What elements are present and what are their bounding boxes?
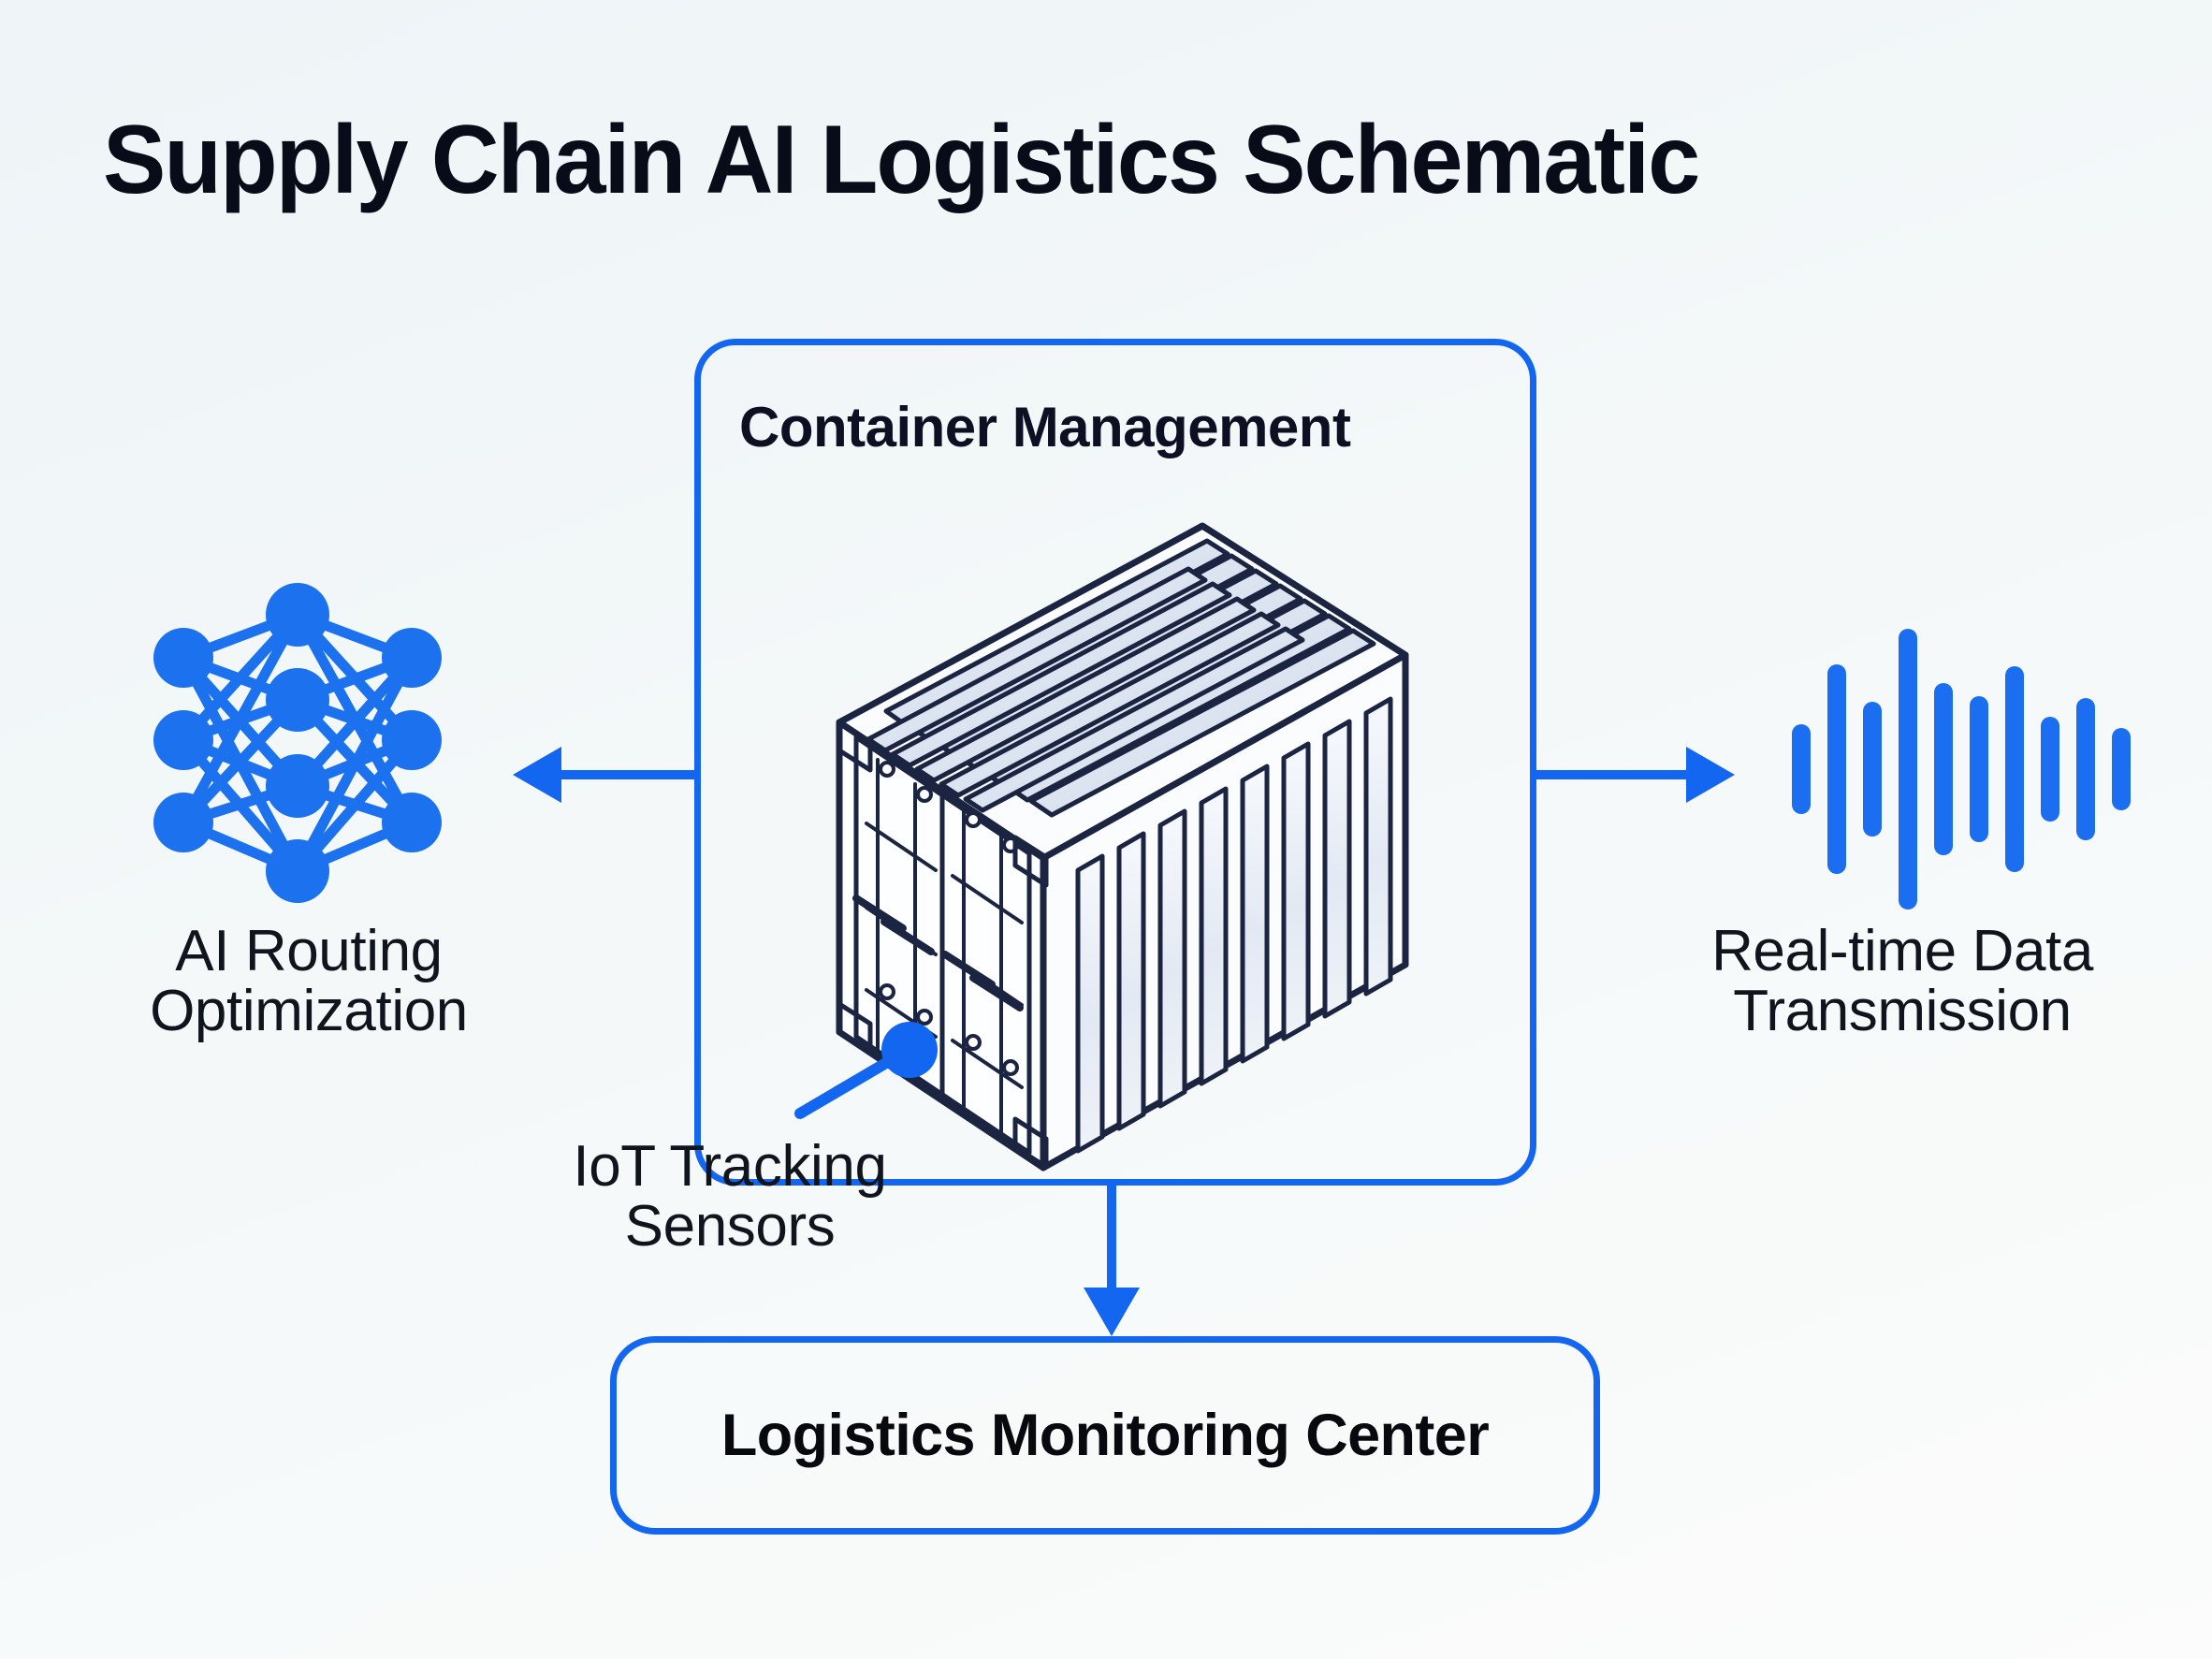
waveform-bar bbox=[1863, 702, 1882, 837]
data-transmission-label-line2: Transmission bbox=[1636, 982, 2169, 1041]
container-management-label: Container Management bbox=[739, 395, 1350, 459]
waveform-bar bbox=[1970, 696, 1988, 842]
waveform-bar bbox=[1934, 683, 1953, 855]
waveform-bar bbox=[1827, 664, 1846, 874]
waveform-bar bbox=[2076, 698, 2095, 840]
logistics-monitoring-center-label: Logistics Monitoring Center bbox=[610, 1336, 1600, 1535]
iot-sensor-label-line1: IoT Tracking bbox=[505, 1137, 954, 1197]
data-transmission-label-line1: Real-time Data bbox=[1636, 922, 2169, 982]
waveform-bar bbox=[1792, 724, 1811, 814]
ai-routing-caption: AI Routing Optimization bbox=[56, 922, 561, 1041]
waveform-bar bbox=[2041, 717, 2059, 822]
data-transmission-caption: Real-time Data Transmission bbox=[1636, 922, 2169, 1041]
arrow-right-icon bbox=[1536, 747, 1735, 803]
diagram-canvas: Supply Chain AI Logistics Schematic Cont… bbox=[0, 0, 2212, 1659]
container-management-group bbox=[694, 339, 1536, 1186]
iot-sensor-label-line2: Sensors bbox=[505, 1197, 954, 1257]
iot-sensor-caption: IoT Tracking Sensors bbox=[505, 1137, 954, 1257]
waveform-bar bbox=[2112, 728, 2131, 810]
ai-routing-label-line2: Optimization bbox=[56, 982, 561, 1041]
ai-routing-label-line1: AI Routing bbox=[56, 922, 561, 982]
arrow-down-icon bbox=[1084, 1186, 1140, 1336]
waveform-bar bbox=[1899, 629, 1917, 910]
page-title: Supply Chain AI Logistics Schematic bbox=[103, 105, 1698, 216]
waveform-bar bbox=[2005, 666, 2024, 872]
arrow-left-icon bbox=[513, 747, 694, 803]
